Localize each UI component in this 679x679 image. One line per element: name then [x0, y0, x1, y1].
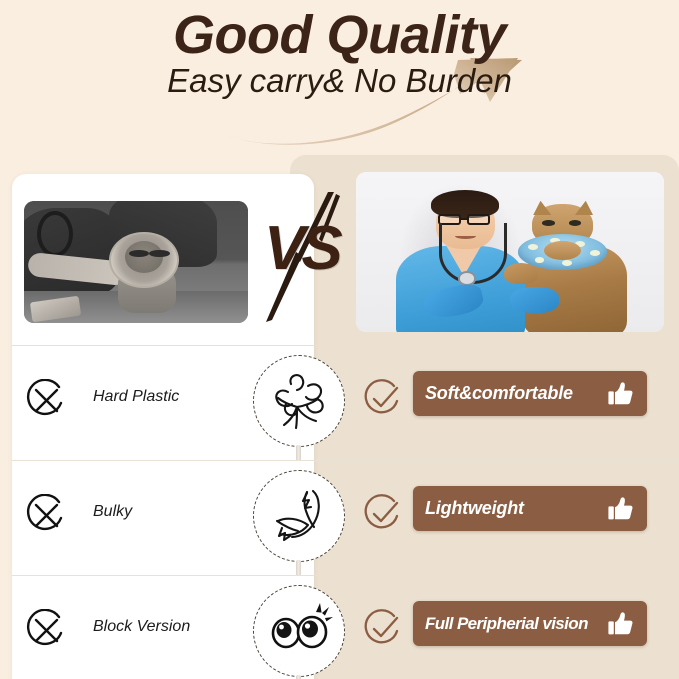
positive-pill: Full Peripherial vision	[413, 601, 647, 646]
thumbs-up-icon	[605, 379, 635, 409]
header-banner: Good Quality Easy carry& No Burden	[0, 0, 679, 152]
page-subtitle: Easy carry& No Burden	[0, 62, 679, 100]
negative-label: Block Version	[93, 618, 190, 636]
negative-product-photo	[24, 201, 248, 323]
vs-badge: VS	[256, 190, 366, 325]
comparison-row: Bulky Lightweight	[0, 460, 679, 574]
circle-x-icon	[25, 494, 68, 537]
thumbs-up-icon	[605, 494, 635, 524]
circle-x-icon	[25, 609, 68, 652]
positive-label: Soft&comfortable	[425, 383, 605, 404]
positive-product-photo	[356, 172, 664, 332]
positive-pill: Soft&comfortable	[413, 371, 647, 416]
comparison-row: Hard Plastic Soft&comfortable	[0, 345, 679, 459]
positive-label: Lightweight	[425, 498, 605, 519]
circle-check-icon	[362, 379, 403, 420]
positive-label: Full Peripherial vision	[425, 614, 605, 634]
page-title: Good Quality	[0, 6, 679, 64]
circle-connector	[296, 445, 301, 461]
comparison-row: Block Version	[0, 575, 679, 679]
row-divider	[12, 460, 679, 461]
feather-icon	[253, 470, 345, 562]
row-divider	[12, 345, 679, 346]
circle-check-icon	[362, 609, 403, 650]
vs-label: VS	[264, 218, 339, 280]
row-divider	[12, 575, 679, 576]
negative-label: Hard Plastic	[93, 388, 179, 406]
positive-pill: Lightweight	[413, 486, 647, 531]
circle-check-icon	[362, 494, 403, 535]
cotton-boll-icon	[253, 355, 345, 447]
thumbs-up-icon	[605, 609, 635, 639]
negative-label: Bulky	[93, 503, 132, 521]
cartoon-eyes-icon	[253, 585, 345, 677]
infographic-root: Good Quality Easy carry& No Burden	[0, 0, 679, 679]
circle-x-icon	[25, 379, 68, 422]
circle-connector	[296, 560, 301, 576]
circle-connector	[296, 675, 301, 679]
